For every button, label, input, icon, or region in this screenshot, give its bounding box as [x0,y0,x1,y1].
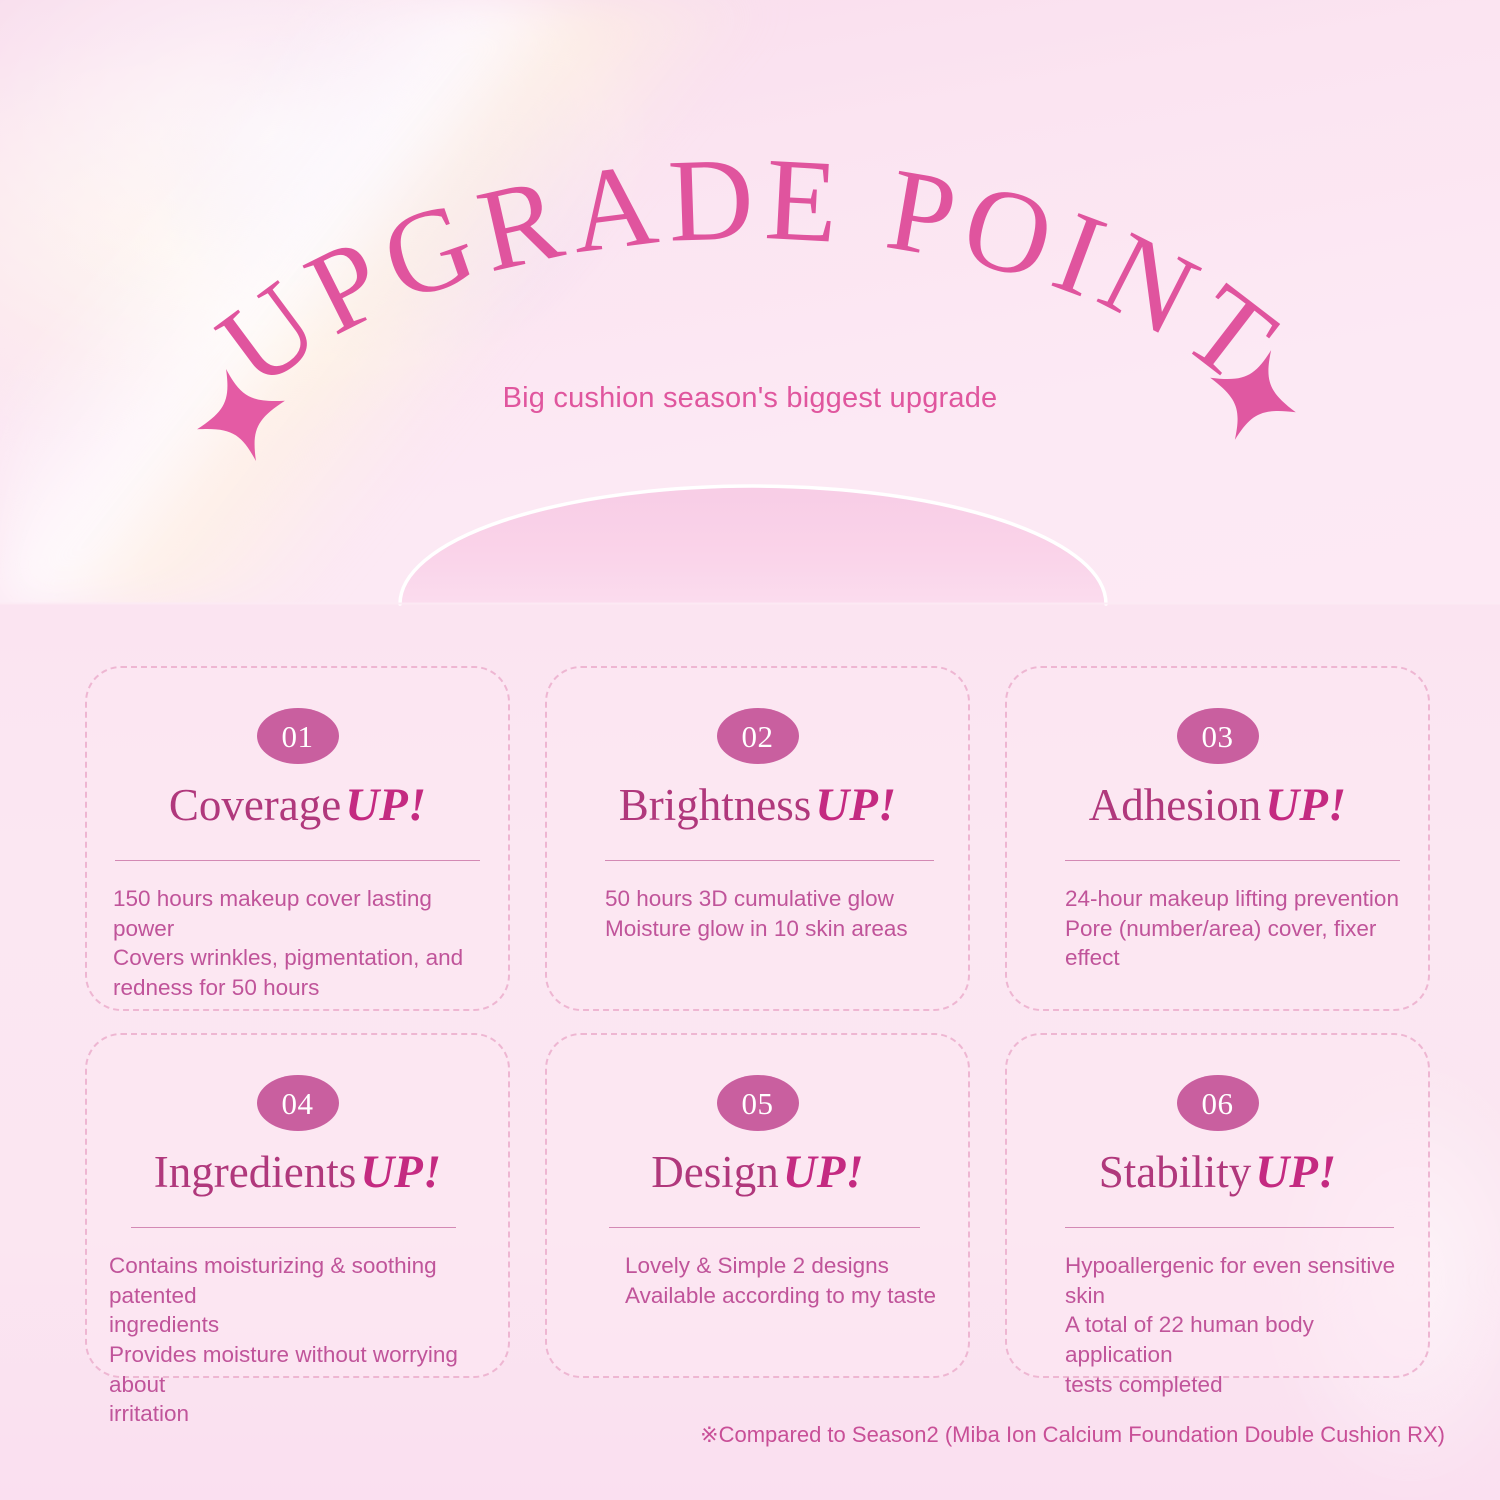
card-title-up: UP! [360,1146,441,1198]
upgrade-card-06[interactable]: 06 StabilityUP! Hypoallergenic for even … [1005,1033,1430,1378]
card-description: Hypoallergenic for even sensitive skin A… [1065,1251,1412,1399]
card-title-up: UP! [815,779,896,831]
card-title: BrightnessUP! [547,781,968,830]
upgrade-card-03[interactable]: 03 AdhesionUP! 24-hour makeup lifting pr… [1005,666,1430,1011]
sparkle-star-icon-right [1198,340,1308,450]
upgrade-card-04[interactable]: 04 IngredientsUP! Contains moisturizing … [85,1033,510,1378]
header: UPGRADE POINT Big cushion season's bigge… [0,0,1500,604]
card-title-label: Stability [1099,1147,1252,1197]
card-number-badge: 05 [717,1075,799,1131]
card-divider [115,860,480,861]
upgrade-card-02[interactable]: 02 BrightnessUP! 50 hours 3D cumulative … [545,666,970,1011]
card-description: Lovely & Simple 2 designs Available acco… [625,1251,952,1310]
card-title-label: Coverage [169,780,341,830]
card-title-up: UP! [345,779,426,831]
sparkle-star-icon [186,360,296,470]
card-title-up: UP! [1255,1146,1336,1198]
upgrade-card-01[interactable]: 01 CoverageUP! 150 hours makeup cover la… [85,666,510,1011]
card-description: Contains moisturizing & soothing patente… [109,1251,492,1429]
card-divider [1065,1227,1394,1228]
footnote: ※Compared to Season2 (Miba Ion Calcium F… [700,1422,1445,1448]
card-title-label: Ingredients [154,1147,356,1197]
card-title: AdhesionUP! [1007,781,1428,830]
card-description: 24-hour makeup lifting prevention Pore (… [1065,884,1412,973]
card-number-badge: 04 [257,1075,339,1131]
upgrade-points-grid: 01 CoverageUP! 150 hours makeup cover la… [85,666,1430,1378]
card-divider [1065,860,1400,861]
card-title-label: Adhesion [1089,780,1262,830]
card-title-up: UP! [783,1146,864,1198]
card-description: 150 hours makeup cover lasting power Cov… [113,884,492,1003]
card-title: StabilityUP! [1007,1148,1428,1197]
card-number-badge: 02 [717,708,799,764]
card-title: CoverageUP! [87,781,508,830]
card-title-label: Brightness [619,780,812,830]
card-description: 50 hours 3D cumulative glow Moisture glo… [605,884,952,943]
page-title-text: UPGRADE POINT [195,150,1306,413]
card-title: IngredientsUP! [87,1148,508,1197]
card-number-badge: 01 [257,708,339,764]
card-title: DesignUP! [547,1148,968,1197]
card-title-up: UP! [1265,779,1346,831]
card-number-badge: 06 [1177,1075,1259,1131]
upgrade-card-05[interactable]: 05 DesignUP! Lovely & Simple 2 designs A… [545,1033,970,1378]
card-number-badge: 03 [1177,708,1259,764]
card-divider [609,1227,920,1228]
card-title-label: Design [651,1147,779,1197]
card-divider [605,860,934,861]
card-divider [131,1227,456,1228]
